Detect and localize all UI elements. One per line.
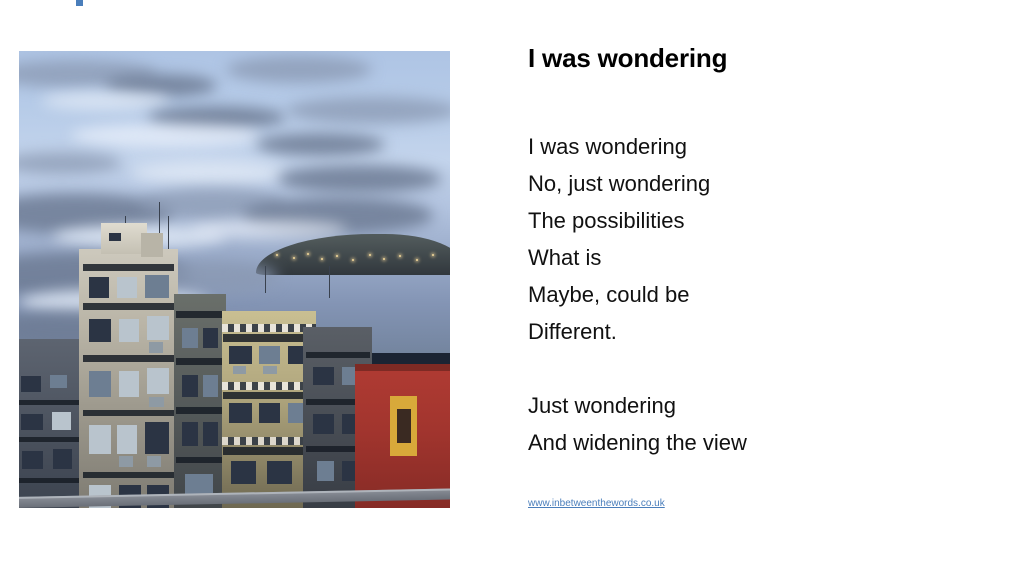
awning: [222, 324, 317, 332]
poem-line: And widening the view: [528, 424, 968, 461]
antenna-mast: [265, 266, 266, 293]
city-block: [19, 302, 450, 508]
cloud: [131, 161, 286, 184]
antenna-mast: [329, 266, 330, 298]
red-building: [355, 364, 450, 508]
cloud: [278, 165, 442, 192]
building: [174, 294, 226, 508]
website-link[interactable]: www.inbetweenthewords.co.uk: [528, 498, 665, 509]
hillside-lights: [269, 250, 450, 264]
stanza: I was wondering No, just wondering The p…: [528, 128, 968, 350]
poem-line: No, just wondering: [528, 165, 968, 202]
cloud: [256, 133, 385, 156]
poem-body: I was wondering No, just wondering The p…: [528, 128, 968, 461]
page-title: I was wondering: [528, 43, 727, 74]
photo-canvas: [19, 51, 450, 508]
city-rooftops-at-dusk-photo: [19, 51, 450, 508]
poem-text-column: I was wondering I was wondering No, just…: [528, 0, 998, 585]
poem-line: The possibilities: [528, 202, 968, 239]
building: [222, 311, 317, 508]
poem-line: Just wondering: [528, 387, 968, 424]
stanza: Just wondering And widening the view: [528, 387, 968, 461]
poem-line: What is: [528, 239, 968, 276]
yellow-window-frame: [390, 396, 417, 456]
cloud: [71, 124, 261, 147]
blue-square-mark: [76, 0, 83, 6]
window-pane: [397, 409, 411, 443]
poem-line: I was wondering: [528, 128, 968, 165]
poem-line: Different.: [528, 313, 968, 350]
cloud: [226, 56, 373, 83]
building: [79, 249, 178, 508]
awning: [222, 382, 317, 390]
antenna-mast: [168, 216, 169, 253]
poem-line: Maybe, could be: [528, 276, 968, 313]
cloud: [286, 97, 450, 124]
awning: [222, 437, 317, 445]
